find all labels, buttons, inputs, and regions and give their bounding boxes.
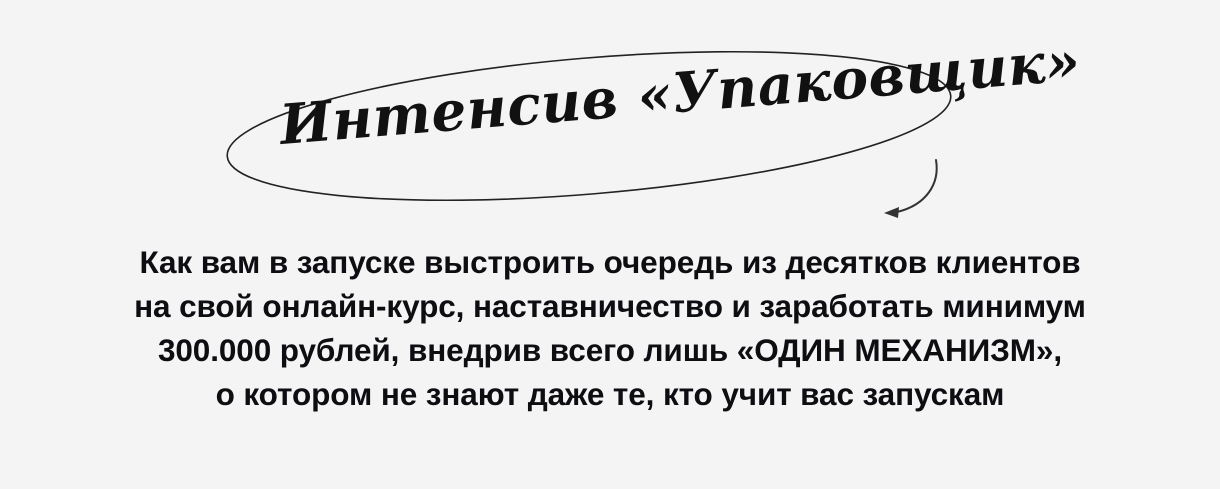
headline-line-4: о котором не знают даже те, кто учит вас… [0,372,1220,416]
headline-line-2: на свой онлайн-курс, наставничество и за… [0,284,1220,328]
course-title-badge: Интенсив «Упаковщик» [0,0,1220,230]
landing-hero-section: Интенсив «Упаковщик» Как вам в запуске в… [0,0,1220,489]
curved-arrow-down-left-icon [884,160,937,218]
hero-headline: Как вам в запуске выстроить очередь из д… [0,240,1220,416]
headline-line-3: 300.000 рублей, внедрив всего лишь «ОДИН… [0,328,1220,372]
headline-line-1: Как вам в запуске выстроить очередь из д… [0,240,1220,284]
